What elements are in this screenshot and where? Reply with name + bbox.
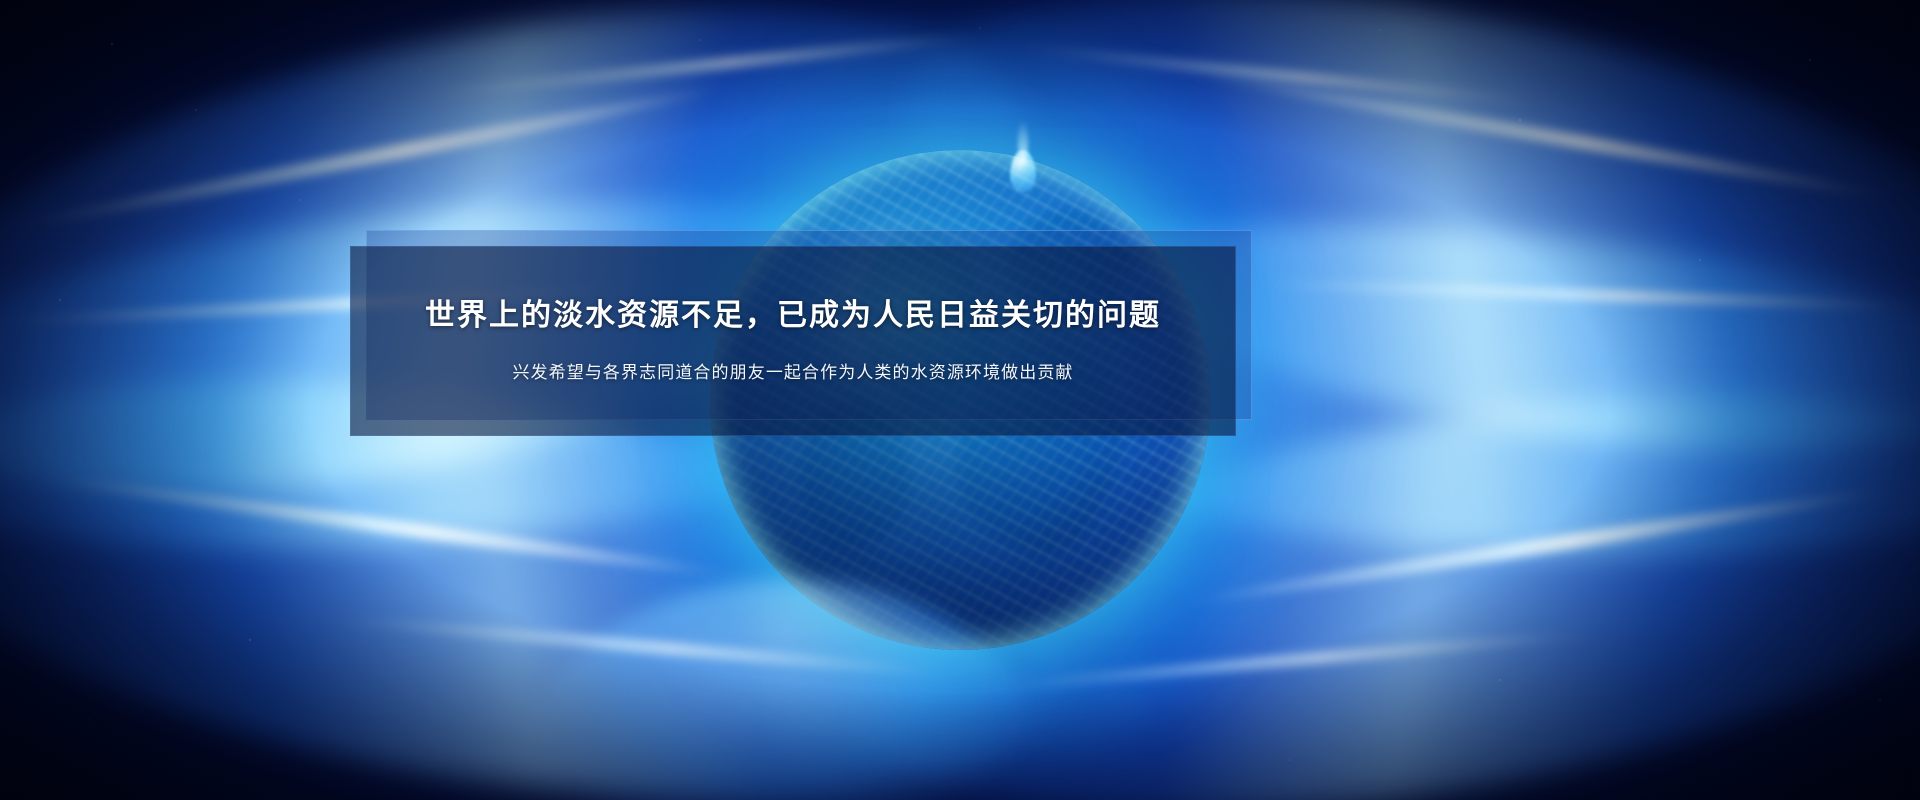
banner-subtitle: 兴发希望与各界志同道合的朋友一起合作为人类的水资源环境做出贡献 bbox=[512, 361, 1073, 385]
banner-text-block: 世界上的淡水资源不足，已成为人民日益关切的问题 兴发希望与各界志同道合的朋友一起… bbox=[350, 236, 1236, 426]
banner-headline: 世界上的淡水资源不足，已成为人民日益关切的问题 bbox=[425, 297, 1161, 335]
banner-text-content: 世界上的淡水资源不足，已成为人民日益关切的问题 兴发希望与各界志同道合的朋友一起… bbox=[350, 246, 1236, 436]
water-resources-hero-banner: 世界上的淡水资源不足，已成为人民日益关切的问题 兴发希望与各界志同道合的朋友一起… bbox=[0, 0, 1920, 800]
